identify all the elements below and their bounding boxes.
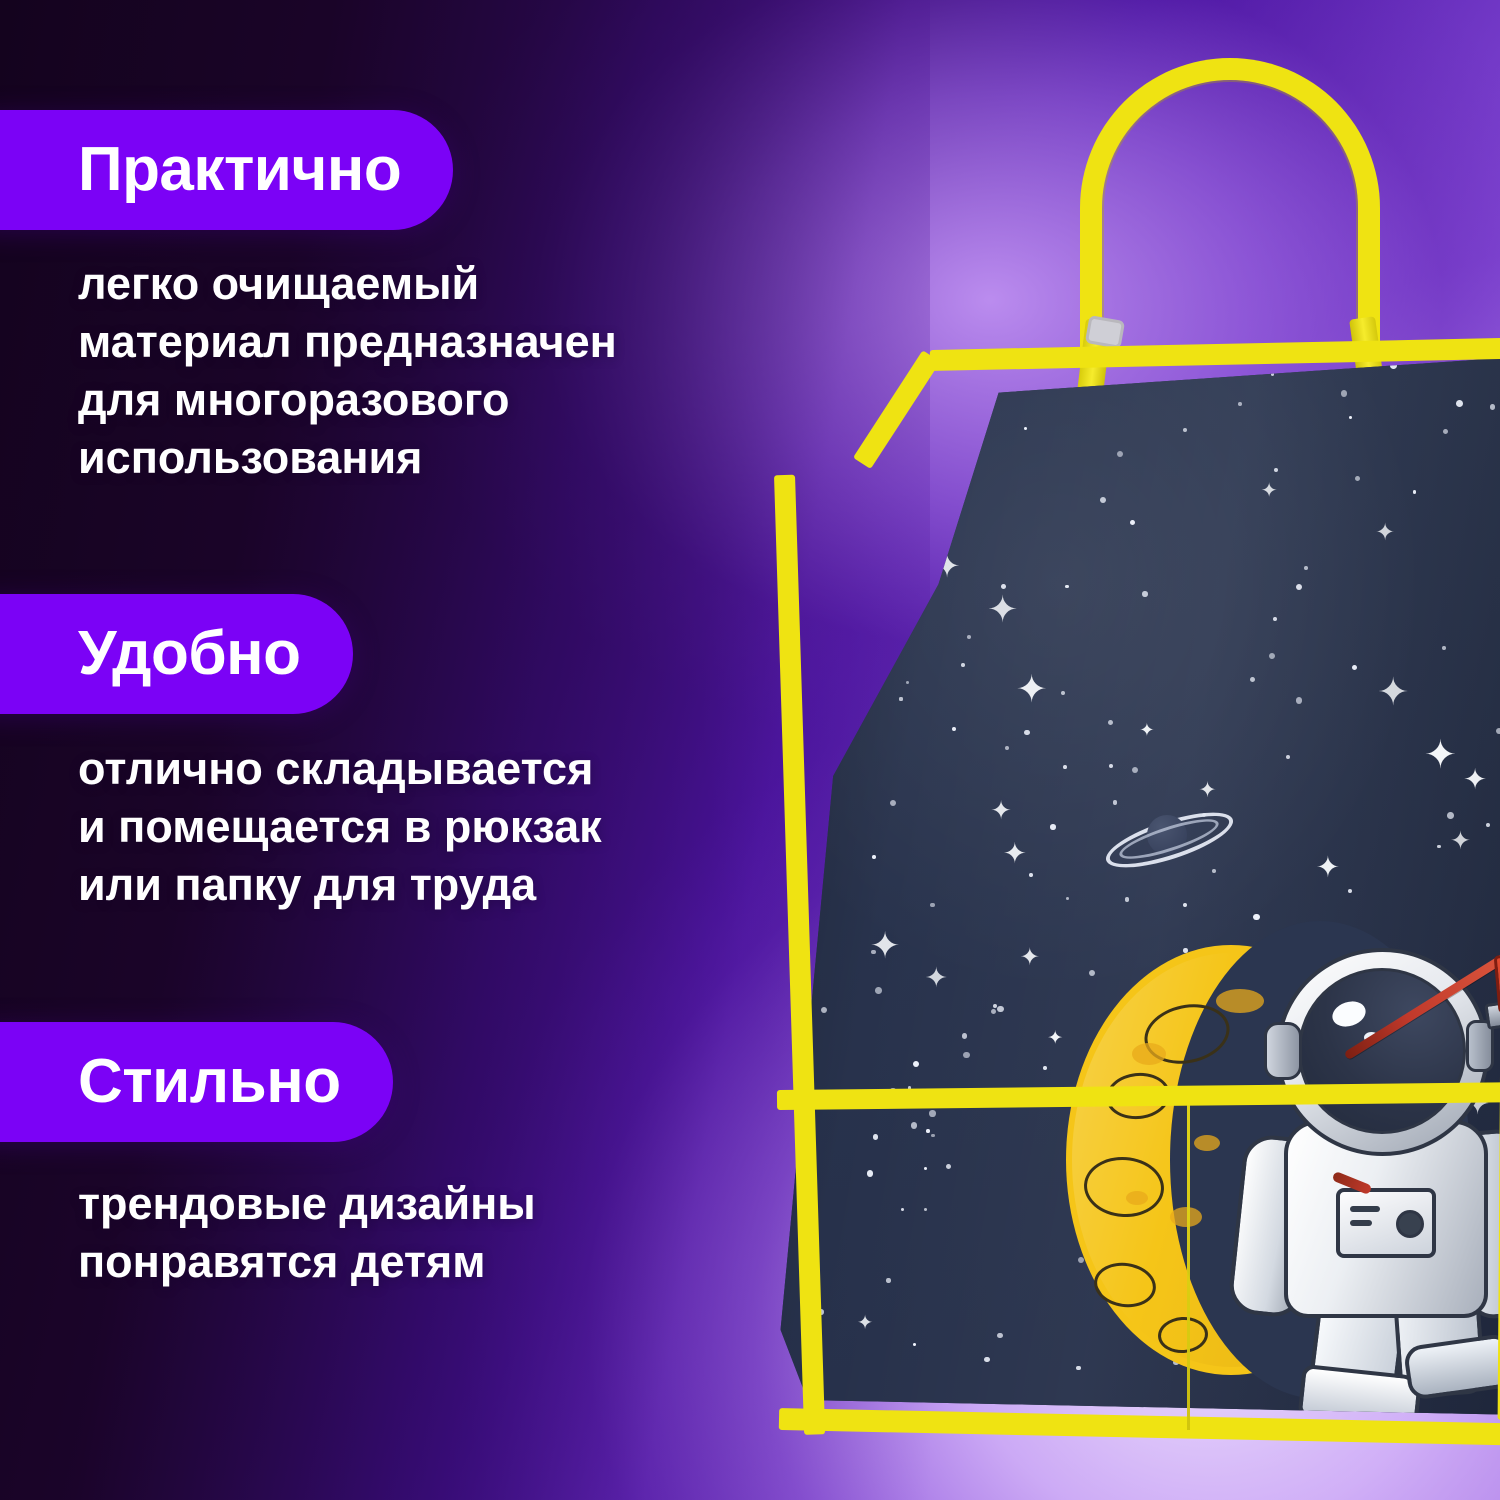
promo-banner: ✦✦✦✦✦✦✦✦✦✦✦✦✦✦✦✦✦✦✦✦✦✦✦✦✦✦✦✦✦✦✦✦✦✦: [0, 0, 1500, 1500]
feature-stylish-description: трендовые дизайны понравятся детям: [78, 1175, 536, 1291]
star-sparkle-icon: ✦: [1463, 766, 1487, 795]
star-dot: [1113, 800, 1117, 804]
moon-crater-fill: [1170, 1207, 1202, 1227]
star-dot: [1348, 889, 1352, 893]
star-sparkle-icon: ✦: [1139, 721, 1154, 739]
star-dot: [961, 663, 965, 667]
star-sparkle-icon: ✦: [1016, 671, 1048, 709]
badge-stylish-label: Стильно: [0, 1051, 393, 1113]
star-sparkle-icon: ✦: [1424, 736, 1457, 775]
star-dot: [1355, 476, 1360, 481]
star-dot: [1024, 427, 1027, 430]
chest-panel-bar-top: [1350, 1206, 1380, 1212]
moon-crater-fill: [1194, 1135, 1220, 1151]
star-dot: [1437, 845, 1440, 848]
star-dot: [962, 1033, 967, 1038]
helmet-left-module: [1264, 1022, 1302, 1080]
badge-practical-label: Практично: [0, 139, 453, 201]
star-sparkle-icon: ✦: [1047, 1029, 1063, 1048]
badge-convenient-label: Удобно: [0, 623, 353, 685]
star-dot: [872, 855, 876, 859]
badge-practical: Практично: [0, 110, 453, 230]
star-dot: [1496, 728, 1500, 734]
star-sparkle-icon: ✦: [1450, 829, 1471, 854]
star-sparkle-icon: ✦: [1377, 674, 1409, 712]
star-sparkle-icon: ✦: [1020, 946, 1040, 970]
star-dot: [1238, 402, 1242, 406]
star-dot: [926, 1129, 930, 1133]
astronaut-print: [1228, 940, 1500, 1400]
star-dot: [1024, 730, 1029, 735]
moon-crater-fill: [1126, 1191, 1148, 1205]
strap-adjuster-clip: [1085, 315, 1125, 349]
star-sparkle-icon: ✦: [1003, 840, 1027, 869]
star-dot: [1066, 897, 1070, 901]
saturn-planet-print: [1103, 805, 1228, 867]
chest-panel-dial: [1396, 1210, 1424, 1238]
pocket-divider-seam: [1187, 1105, 1190, 1430]
star-dot: [930, 903, 935, 908]
product-apron-image: ✦✦✦✦✦✦✦✦✦✦✦✦✦✦✦✦✦✦✦✦✦✦✦✦✦✦✦✦✦✦✦✦✦✦: [735, 50, 1500, 1470]
star-dot: [984, 1357, 990, 1363]
star-dot: [906, 681, 909, 684]
star-dot: [1296, 697, 1303, 704]
star-dot: [1063, 765, 1067, 769]
star-dot: [997, 1006, 1003, 1012]
feature-convenient-description: отлично складывается и помещается в рюкз…: [78, 740, 602, 914]
star-dot: [1447, 812, 1454, 819]
star-dot: [1142, 591, 1147, 596]
star-sparkle-icon: ✦: [925, 964, 948, 992]
star-dot: [1490, 404, 1496, 410]
star-sparkle-icon: ✦: [1198, 780, 1216, 801]
star-dot: [899, 697, 902, 700]
star-dot: [1274, 468, 1278, 472]
star-dot: [924, 1208, 927, 1211]
star-dot: [1341, 390, 1348, 397]
star-dot: [1212, 869, 1216, 873]
star-dot: [1050, 824, 1056, 830]
star-sparkle-icon: ✦: [870, 928, 901, 965]
star-sparkle-icon: ✦: [1316, 854, 1340, 883]
astronaut-chest-control-panel: [1336, 1188, 1436, 1258]
star-dot: [1443, 429, 1448, 434]
star-dot: [1269, 653, 1275, 659]
moon-crater-fill: [1132, 1043, 1166, 1065]
star-dot: [875, 987, 882, 994]
star-dot: [911, 1122, 917, 1128]
star-sparkle-icon: ✦: [990, 799, 1011, 824]
star-sparkle-icon: ✦: [987, 591, 1018, 628]
star-dot: [886, 1278, 890, 1282]
feature-practical-description: легко очищаемый материал предназначен дл…: [78, 255, 617, 487]
badge-convenient: Удобно: [0, 594, 353, 714]
star-sparkle-icon: ✦: [1375, 521, 1395, 544]
chest-panel-bar-bottom: [1350, 1220, 1372, 1226]
star-dot: [1043, 1066, 1047, 1070]
star-dot: [1125, 897, 1129, 901]
star-sparkle-icon: ✦: [1261, 481, 1278, 501]
star-dot: [1100, 497, 1106, 503]
star-dot: [1065, 585, 1068, 588]
star-dot: [867, 1170, 874, 1177]
star-dot: [963, 1052, 970, 1059]
star-dot: [929, 1110, 935, 1116]
star-dot: [1442, 646, 1446, 650]
badge-stylish: Стильно: [0, 1022, 393, 1142]
star-sparkle-icon: ✦: [857, 1314, 873, 1333]
star-dot: [1029, 873, 1033, 877]
star-dot: [1273, 617, 1277, 621]
